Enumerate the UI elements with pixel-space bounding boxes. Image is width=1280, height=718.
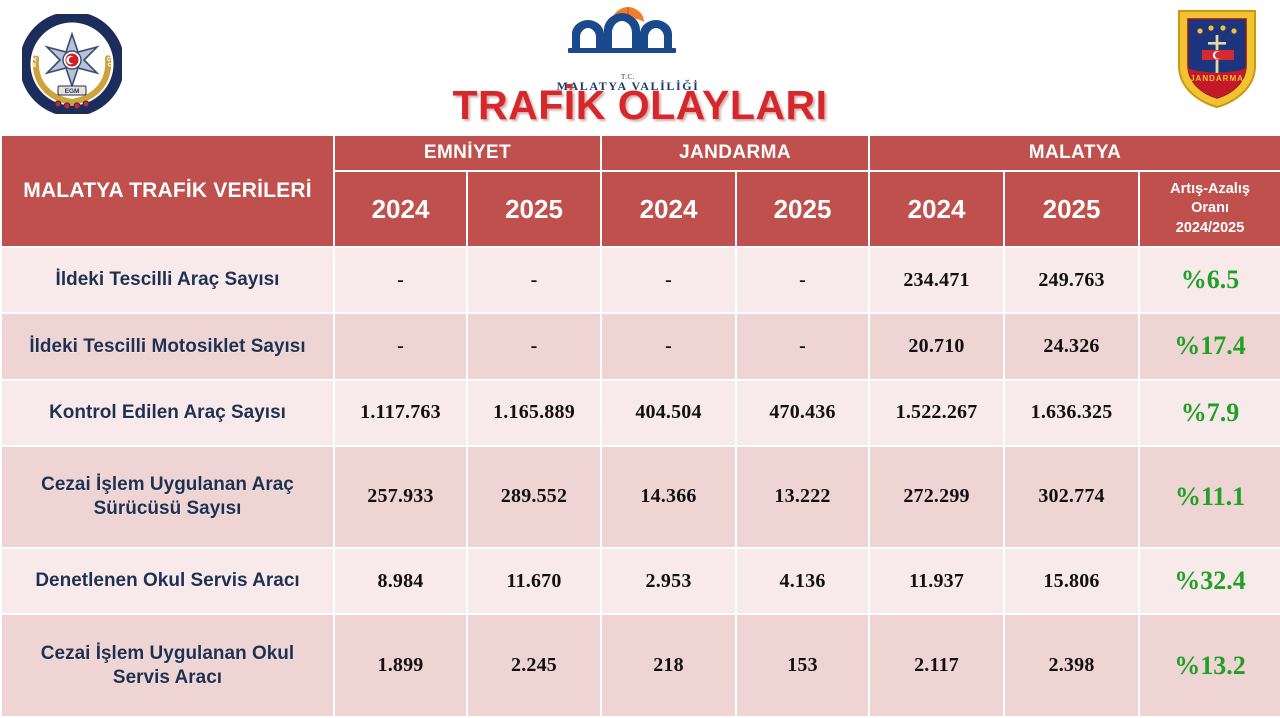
table-row: İldeki Tescilli Motosiklet Sayısı - - - … — [1, 313, 1280, 379]
cell-emniyet-2025: 2.245 — [467, 614, 601, 717]
table-body: İldeki Tescilli Araç Sayısı - - - - 234.… — [1, 247, 1280, 717]
group-header-jandarma: JANDARMA — [601, 135, 869, 171]
cell-jandarma-2024: - — [601, 247, 736, 313]
table-header: MALATYA TRAFİK VERİLERİ EMNİYET JANDARMA… — [1, 135, 1280, 247]
cell-malatya-2024: 1.522.267 — [869, 380, 1004, 446]
page-header: EGM MALATYA EMNİYET MÜDÜRLÜĞÜ — [0, 0, 1280, 134]
cell-malatya-2024: 234.471 — [869, 247, 1004, 313]
row-label: Cezai İşlem Uygulanan Okul Servis Aracı — [1, 614, 334, 717]
cell-emniyet-2024: - — [334, 247, 467, 313]
cell-emniyet-2024: 1.899 — [334, 614, 467, 717]
cell-malatya-2024: 20.710 — [869, 313, 1004, 379]
cell-jandarma-2024: - — [601, 313, 736, 379]
row-label: İldeki Tescilli Araç Sayısı — [1, 247, 334, 313]
cell-jandarma-2025: - — [736, 313, 869, 379]
year-header-jandarma-2025: 2025 — [736, 171, 869, 247]
year-header-jandarma-2024: 2024 — [601, 171, 736, 247]
cell-jandarma-2024: 404.504 — [601, 380, 736, 446]
year-header-malatya-2025: 2025 — [1004, 171, 1139, 247]
cell-jandarma-2025: 13.222 — [736, 446, 869, 548]
cell-emniyet-2025: - — [467, 313, 601, 379]
traffic-data-table: MALATYA TRAFİK VERİLERİ EMNİYET JANDARMA… — [0, 134, 1280, 718]
row-label: Denetlenen Okul Servis Aracı — [1, 548, 334, 614]
cell-emniyet-2024: 8.984 — [334, 548, 467, 614]
row-label: İldeki Tescilli Motosiklet Sayısı — [1, 313, 334, 379]
cell-malatya-2024: 272.299 — [869, 446, 1004, 548]
cell-jandarma-2024: 2.953 — [601, 548, 736, 614]
table-row: Cezai İşlem Uygulanan Okul Servis Aracı … — [1, 614, 1280, 717]
row-label: Cezai İşlem Uygulanan Araç Sürücüsü Sayı… — [1, 446, 334, 548]
cell-malatya-2025: 15.806 — [1004, 548, 1139, 614]
malatya-valiligi-logo: T.C. MALATYA VALİLİĞİ — [548, 6, 708, 84]
cell-ratio: %13.2 — [1139, 614, 1280, 717]
cell-malatya-2024: 11.937 — [869, 548, 1004, 614]
table-row: İldeki Tescilli Araç Sayısı - - - - 234.… — [1, 247, 1280, 313]
cell-emniyet-2024: 257.933 — [334, 446, 467, 548]
cell-jandarma-2025: 470.436 — [736, 380, 869, 446]
cell-malatya-2025: 249.763 — [1004, 247, 1139, 313]
cell-jandarma-2024: 218 — [601, 614, 736, 717]
cell-malatya-2025: 24.326 — [1004, 313, 1139, 379]
group-header-row: MALATYA TRAFİK VERİLERİ EMNİYET JANDARMA… — [1, 135, 1280, 171]
cell-jandarma-2024: 14.366 — [601, 446, 736, 548]
ratio-header-line3: 2024/2025 — [1144, 219, 1276, 238]
cell-ratio: %17.4 — [1139, 313, 1280, 379]
table-row: Cezai İşlem Uygulanan Araç Sürücüsü Sayı… — [1, 446, 1280, 548]
corner-label-cell: MALATYA TRAFİK VERİLERİ — [1, 135, 334, 247]
page-title: TRAFİK OLAYLARI — [0, 82, 1280, 129]
ratio-header-line1: Artış-Azalış — [1144, 180, 1276, 199]
year-header-emniyet-2025: 2025 — [467, 171, 601, 247]
cell-emniyet-2025: 11.670 — [467, 548, 601, 614]
cell-emniyet-2025: 289.552 — [467, 446, 601, 548]
cell-malatya-2025: 2.398 — [1004, 614, 1139, 717]
cell-jandarma-2025: 153 — [736, 614, 869, 717]
table-row: Kontrol Edilen Araç Sayısı 1.117.763 1.1… — [1, 380, 1280, 446]
cell-ratio: %32.4 — [1139, 548, 1280, 614]
cell-emniyet-2025: - — [467, 247, 601, 313]
cell-malatya-2024: 2.117 — [869, 614, 1004, 717]
cell-ratio: %7.9 — [1139, 380, 1280, 446]
cell-ratio: %11.1 — [1139, 446, 1280, 548]
group-header-emniyet: EMNİYET — [334, 135, 601, 171]
year-header-emniyet-2024: 2024 — [334, 171, 467, 247]
cell-emniyet-2024: 1.117.763 — [334, 380, 467, 446]
year-header-malatya-2024: 2024 — [869, 171, 1004, 247]
ratio-header-cell: Artış-Azalış Oranı 2024/2025 — [1139, 171, 1280, 247]
group-header-malatya: MALATYA — [869, 135, 1280, 171]
cell-ratio: %6.5 — [1139, 247, 1280, 313]
row-label: Kontrol Edilen Araç Sayısı — [1, 380, 334, 446]
cell-emniyet-2024: - — [334, 313, 467, 379]
cell-jandarma-2025: 4.136 — [736, 548, 869, 614]
page-root: EGM MALATYA EMNİYET MÜDÜRLÜĞÜ — [0, 0, 1280, 718]
cell-malatya-2025: 302.774 — [1004, 446, 1139, 548]
table-row: Denetlenen Okul Servis Aracı 8.984 11.67… — [1, 548, 1280, 614]
cell-jandarma-2025: - — [736, 247, 869, 313]
cell-malatya-2025: 1.636.325 — [1004, 380, 1139, 446]
cell-emniyet-2025: 1.165.889 — [467, 380, 601, 446]
ratio-header-line2: Oranı — [1144, 199, 1276, 218]
